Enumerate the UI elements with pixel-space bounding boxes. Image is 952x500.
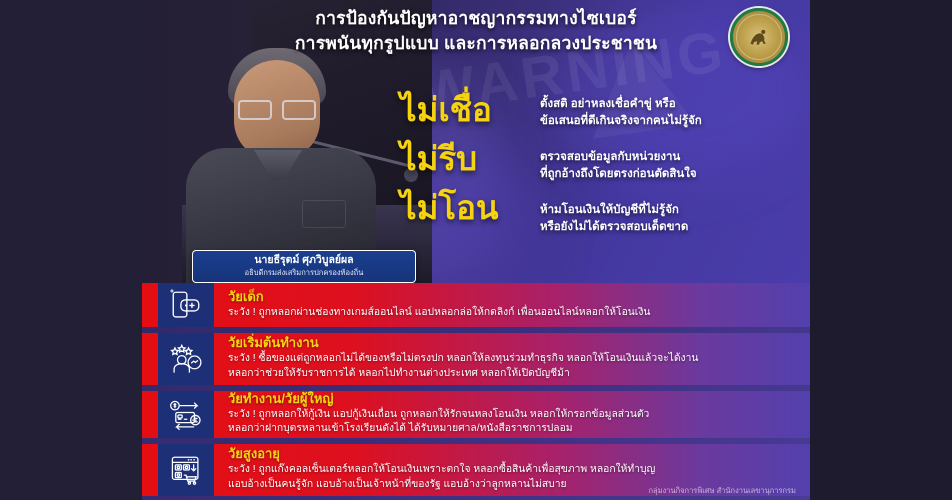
bullet-1-line-2: ข้อเสนอที่ดีเกินจริงจากคนไม่รู้จัก [540, 113, 800, 130]
row-child-title: วัยเด็ก [228, 289, 650, 306]
person-stars-handshake-icon [158, 333, 214, 385]
money-transfer-card-icon [158, 391, 214, 438]
row-elderly-line-2: แอบอ้างเป็นคนรู้จัก แอบอ้างเป็นเจ้าหน้าท… [228, 478, 655, 493]
row-child-text: วัยเด็ก ระวัง ! ถูกหลอกผ่านช่องทางเกมส์อ… [214, 284, 662, 327]
slogan-3: ไม่โอน [400, 190, 545, 227]
row-elderly-title: วัยสูงอายุ [228, 446, 655, 463]
bullet-2-line-2: ที่ถูกอ้างถึงโดยตรงก่อนตัดสินใจ [540, 166, 800, 183]
age-group-rows: วัยเด็ก ระวัง ! ถูกหลอกผ่านช่องทางเกมส์อ… [142, 283, 810, 500]
letterbox-left [0, 0, 142, 500]
infographic-poster: WARNING UNKNOWN นายธีรุตม์ ศุภวิบูลย์ผล … [0, 0, 952, 500]
row-early-career-text: วัยเริ่มต้นทำงาน ระวัง ! ซื้อของแต่ถูกหล… [214, 330, 710, 387]
row-elderly-text: วัยสูงอายุ ระวัง ! ถูกแก๊งคอลเซ็นเตอร์หล… [214, 441, 667, 498]
seal-ring [736, 14, 782, 60]
row-working-adult-line-2: หลอกว่าฝากบุตรหลานเข้าโรงเรียนดังได้ ได้… [228, 422, 649, 437]
footer-credit: กลุ่มงานกิจการพิเศษ สำนักงานเลขานุการกรม [649, 485, 796, 497]
speaker-pocket [302, 200, 346, 228]
row-early-career-line-2: หลอกว่าช่วยให้รับราชการได้ หลอกไปทำงานต่… [228, 367, 698, 382]
row-working-adult-title: วัยทำงาน/วัยผู้ใหญ่ [228, 391, 649, 408]
row-red-cap [142, 444, 158, 496]
page-title: การป้องกันปัญหาอาชญากรรมทางไซเบอร์ การพน… [142, 6, 810, 56]
speaker-nameplate: นายธีรุตม์ ศุภวิบูลย์ผล อธิบดีกรมส่งเสริ… [192, 250, 416, 283]
glasses-icon [238, 100, 316, 116]
title-line-1: การป้องกันปัญหาอาชญากรรมทางไซเบอร์ [142, 6, 810, 31]
row-red-cap [142, 333, 158, 385]
row-working-adult-text: วัยทำงาน/วัยผู้ใหญ่ ระวัง ! ถูกหลอกให้กู… [214, 386, 661, 443]
row-early-career: วัยเริ่มต้นทำงาน ระวัง ! ซื้อของแต่ถูกหล… [142, 333, 810, 385]
row-early-career-line-1: ระวัง ! ซื้อของแต่ถูกหลอกไม่ได้ของหรือไม… [228, 352, 698, 367]
row-working-adult-line-1: ระวัง ! ถูกหลอกให้กู้เงิน แอปกู้เงินเถื่… [228, 408, 649, 423]
bullet-3-line-2: หรือยังไม่ได้ตรวจสอบเด็ดขาด [540, 219, 800, 236]
title-line-2: การพนันทุกรูปแบบ และการหลอกลวงประชาชน [142, 31, 810, 56]
bullet-1: ตั้งสติ อย่าหลงเชื่อคำขู่ หรือ ข้อเสนอที… [540, 96, 800, 131]
speaker-role: อธิบดีกรมส่งเสริมการปกครองท้องถิ่น [199, 268, 409, 278]
bullet-3: ห้ามโอนเงินให้บัญชีที่ไม่รู้จัก หรือยังไ… [540, 202, 800, 237]
poster-stage: WARNING UNKNOWN นายธีรุตม์ ศุภวิบูลย์ผล … [142, 0, 810, 500]
government-seal-icon [730, 8, 788, 66]
row-elderly-line-1: ระวัง ! ถูกแก๊งคอลเซ็นเตอร์หลอกให้โอนเงิ… [228, 463, 655, 478]
row-working-adult: วัยทำงาน/วัยผู้ใหญ่ ระวัง ! ถูกหลอกให้กู… [142, 391, 810, 438]
slogan-2: ไม่รีบ [400, 141, 545, 178]
slogan-1: ไม่เชื่อ [400, 92, 545, 129]
bullet-list: ตั้งสติ อย่าหลงเชื่อคำขู่ หรือ ข้อเสนอที… [540, 96, 800, 255]
bullet-2: ตรวจสอบข้อมูลกับหน่วยงาน ที่ถูกอ้างถึงโด… [540, 149, 800, 184]
row-child: วัยเด็ก ระวัง ! ถูกหลอกผ่านช่องทางเกมส์อ… [142, 283, 810, 327]
hero-section: WARNING UNKNOWN นายธีรุตม์ ศุภวิบูลย์ผล … [142, 0, 810, 283]
row-red-cap [142, 283, 158, 327]
slogan-list: ไม่เชื่อ ไม่รีบ ไม่โอน [400, 92, 545, 239]
letterbox-right [810, 0, 952, 500]
bullet-2-line-1: ตรวจสอบข้อมูลกับหน่วยงาน [540, 149, 800, 166]
speaker-name: นายธีรุตม์ ศุภวิบูลย์ผล [199, 254, 409, 267]
phone-gamepad-icon [158, 283, 214, 327]
row-early-career-title: วัยเริ่มต้นทำงาน [228, 335, 698, 352]
browser-shopping-icon [158, 444, 214, 496]
bullet-3-line-1: ห้ามโอนเงินให้บัญชีที่ไม่รู้จัก [540, 202, 800, 219]
row-red-cap [142, 391, 158, 438]
bullet-1-line-1: ตั้งสติ อย่าหลงเชื่อคำขู่ หรือ [540, 96, 800, 113]
row-child-line-1: ระวัง ! ถูกหลอกผ่านช่องทางเกมส์ออนไลน์ แ… [228, 306, 650, 321]
